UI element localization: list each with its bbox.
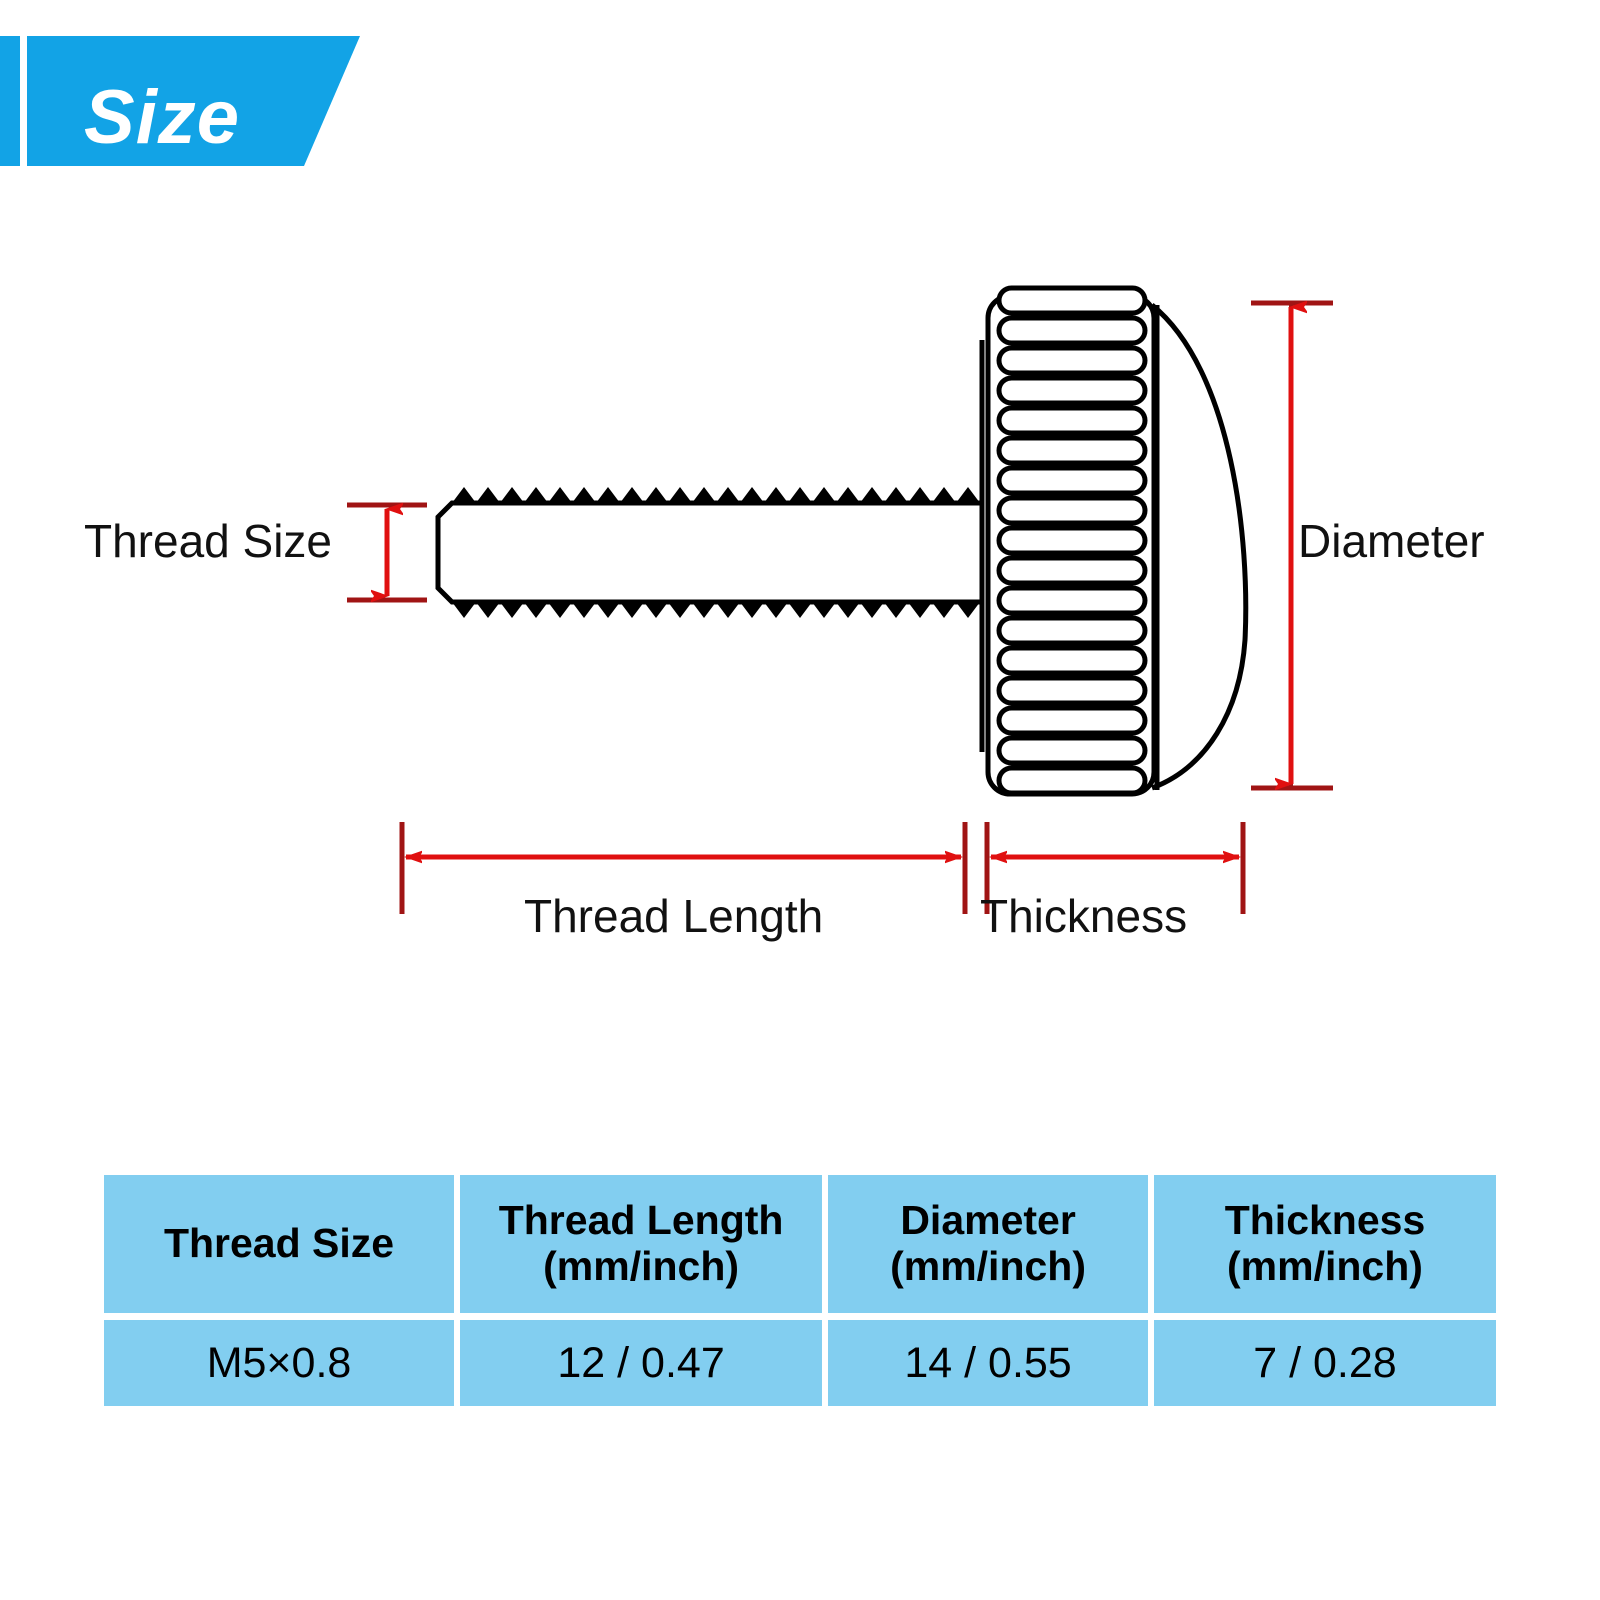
header-line-1: Thickness [1225, 1197, 1426, 1243]
table-header-row: Thread Size Thread Length (mm/inch) Diam… [104, 1175, 1496, 1313]
cell-thread-length: 12 / 0.47 [460, 1320, 822, 1406]
column-header-diameter: Diameter (mm/inch) [828, 1175, 1148, 1313]
spec-table: Thread Size Thread Length (mm/inch) Diam… [98, 1168, 1502, 1413]
label-thickness: Thickness [980, 893, 1187, 939]
thumb-screw-drawing: Thread Size Diameter Thread Length Thick… [0, 0, 1600, 1120]
header-line-1: Thread Length [499, 1197, 784, 1243]
column-header-thickness: Thickness (mm/inch) [1154, 1175, 1496, 1313]
knurl-stripes [999, 288, 1145, 793]
header-line-2: (mm/inch) [1154, 1244, 1496, 1290]
screw-shaft [438, 503, 982, 602]
label-thread-length: Thread Length [524, 893, 823, 939]
header-line-1: Diameter [900, 1197, 1075, 1243]
cell-thread-size: M5×0.8 [104, 1320, 454, 1406]
column-header-thread-length: Thread Length (mm/inch) [460, 1175, 822, 1313]
knurled-head [982, 288, 1246, 794]
header-line-2: (mm/inch) [460, 1244, 822, 1290]
header-line-1: Thread Size [164, 1220, 394, 1266]
header-line-2: (mm/inch) [828, 1244, 1148, 1290]
label-diameter: Diameter [1298, 518, 1485, 564]
column-header-thread-size: Thread Size [104, 1175, 454, 1313]
cell-diameter: 14 / 0.55 [828, 1320, 1148, 1406]
cell-thickness: 7 / 0.28 [1154, 1320, 1496, 1406]
table-row: M5×0.8 12 / 0.47 14 / 0.55 7 / 0.28 [104, 1320, 1496, 1406]
label-thread-size: Thread Size [84, 518, 332, 564]
